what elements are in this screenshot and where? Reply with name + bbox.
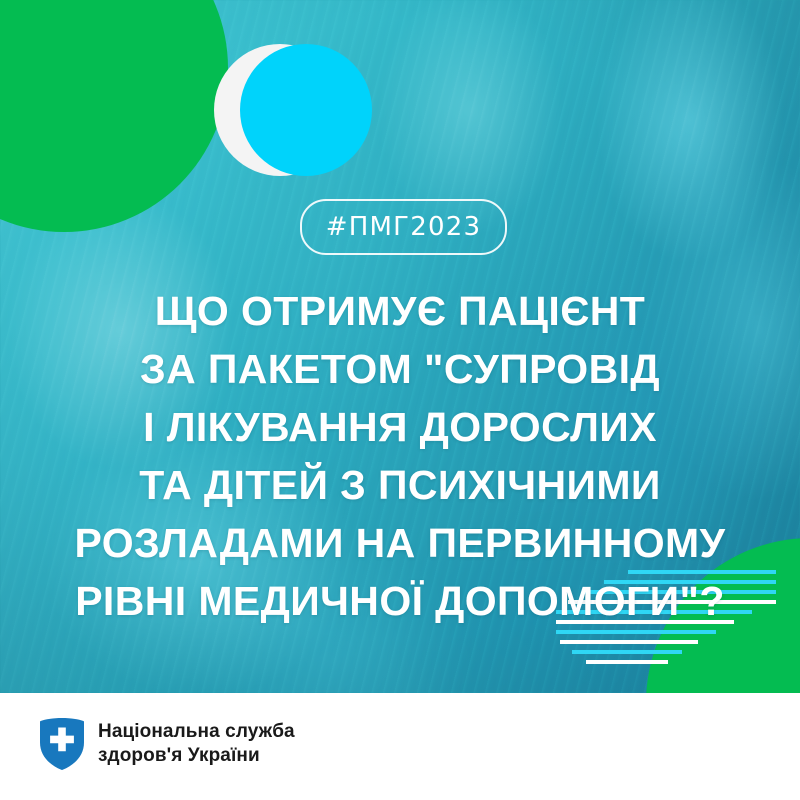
organization-name-line-2: здоров'я України [98, 744, 295, 768]
organization-logo: Національна служба здоров'я України [40, 718, 295, 770]
headline-line-3: І ЛІКУВАННЯ ДОРОСЛИХ [0, 398, 800, 456]
hashtag-badge: #ПМГ2023 [300, 199, 507, 255]
headline-line-5: РОЗЛАДАМИ НА ПЕРВИННОМУ [0, 514, 800, 572]
headline-line-6: РІВНІ МЕДИЧНОЇ ДОПОМОГИ"? [0, 572, 800, 630]
cyan-circle-decoration [240, 44, 372, 176]
page-title: ЩО ОТРИМУЄ ПАЦІЄНТ ЗА ПАКЕТОМ "СУПРОВІД … [0, 282, 800, 630]
headline-line-4: ТА ДІТЕЙ З ПСИХІЧНИМИ [0, 456, 800, 514]
hero-photo-area: #ПМГ2023 ЩО ОТРИМУЄ ПАЦІЄНТ ЗА ПАКЕТОМ "… [0, 0, 800, 693]
decor-line-8 [560, 640, 698, 644]
headline-line-1: ЩО ОТРИМУЄ ПАЦІЄНТ [0, 282, 800, 340]
organization-name: Національна служба здоров'я України [98, 720, 295, 768]
footer-bar: Національна служба здоров'я України [0, 693, 800, 800]
decor-line-10 [586, 660, 668, 664]
decor-line-9 [572, 650, 682, 654]
hashtag-badge-label: #ПМГ2023 [326, 212, 481, 242]
headline-line-2: ЗА ПАКЕТОМ "СУПРОВІД [0, 340, 800, 398]
poster-canvas: #ПМГ2023 ЩО ОТРИМУЄ ПАЦІЄНТ ЗА ПАКЕТОМ "… [0, 0, 800, 800]
organization-name-line-1: Національна служба [98, 720, 295, 744]
shield-cross-icon [40, 718, 84, 770]
decor-line-7 [556, 630, 716, 634]
